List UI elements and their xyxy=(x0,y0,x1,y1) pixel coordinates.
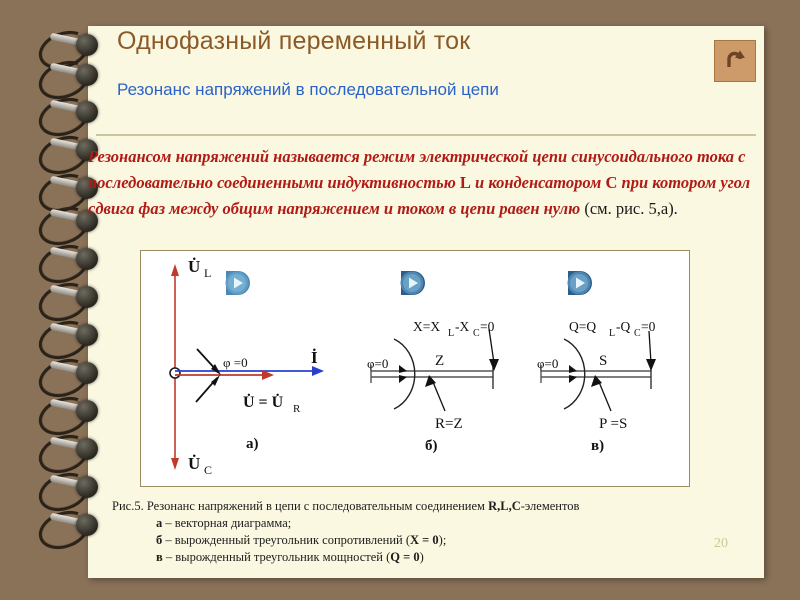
caption-line3-pre: – вырожденный треугольник сопротивлений … xyxy=(162,533,410,547)
caption-line3-post: ); xyxy=(439,533,447,547)
return-arrow-icon xyxy=(722,48,748,74)
binding-ring xyxy=(24,318,98,358)
caption-line-2: а – векторная диаграмма; xyxy=(156,515,752,532)
diagram-b-impedance: X=X L -X C =0 φ=0 Z R=Z б) xyxy=(363,251,538,484)
svg-text:X=X: X=X xyxy=(413,319,440,334)
diagram-c-power: Q=Q L -Q C =0 φ=0 S P =S в) xyxy=(533,251,693,484)
svg-text:C: C xyxy=(473,328,480,339)
svg-text:φ =0: φ =0 xyxy=(223,355,248,370)
play-icon xyxy=(224,269,254,297)
svg-text:U̇: U̇ xyxy=(188,257,200,276)
svg-text:=0: =0 xyxy=(480,319,495,334)
svg-text:а): а) xyxy=(246,436,259,452)
play-badge-c[interactable] xyxy=(566,269,596,297)
figure-caption: Рис.5. Резонанс напряжений в цепи с посл… xyxy=(112,498,752,566)
binding-ring xyxy=(24,133,98,173)
play-icon xyxy=(566,269,596,297)
play-badge-a[interactable] xyxy=(224,269,254,297)
para-red-2: и конденсатором xyxy=(471,173,606,192)
para-symbol-L: L xyxy=(460,173,471,192)
caption-line4-pre: – вырожденный треугольник мощностей ( xyxy=(163,550,390,564)
binding-ring xyxy=(24,58,98,98)
svg-text:L: L xyxy=(204,266,211,280)
caption-line1-bold: R,L,C xyxy=(488,499,521,513)
binding-ring xyxy=(24,280,98,320)
svg-text:U̇: U̇ xyxy=(188,454,200,473)
spiral-binding xyxy=(0,0,110,600)
caption-line3-bold2: X = 0 xyxy=(410,533,439,547)
svg-text:φ=0: φ=0 xyxy=(367,356,388,371)
binding-ring xyxy=(24,204,98,244)
svg-text:б): б) xyxy=(425,438,438,454)
caption-line-1: Рис.5. Резонанс напряжений в цепи с посл… xyxy=(112,498,752,515)
header-divider xyxy=(96,134,756,136)
binding-ring xyxy=(24,242,98,282)
binding-ring xyxy=(24,356,98,396)
caption-line-3: б – вырожденный треугольник сопротивлени… xyxy=(156,532,752,549)
para-reference: (см. рис. 5,а). xyxy=(584,199,677,218)
return-button[interactable] xyxy=(714,40,756,82)
caption-line1-pre: Рис.5. Резонанс напряжений в цепи с посл… xyxy=(112,499,488,513)
caption-line1-post: -элементов xyxy=(521,499,580,513)
caption-line4-bold: в xyxy=(156,550,163,564)
svg-text:-X: -X xyxy=(455,319,469,334)
svg-text:в): в) xyxy=(591,438,604,454)
binding-ring xyxy=(24,394,98,434)
svg-text:=0: =0 xyxy=(641,319,656,334)
binding-ring xyxy=(24,470,98,510)
svg-text:R=Z: R=Z xyxy=(435,416,463,432)
binding-ring xyxy=(24,508,98,548)
binding-ring xyxy=(24,95,98,135)
svg-text:L: L xyxy=(609,328,615,339)
svg-text:S: S xyxy=(599,353,607,369)
figure-box: U̇ L U̇ C İ φ =0 U̇ = U̇ R а) X=X L -X C… xyxy=(140,250,690,487)
svg-text:R: R xyxy=(293,403,301,415)
play-icon xyxy=(399,269,429,297)
caption-line2-text: – векторная диаграмма; xyxy=(162,516,291,530)
svg-text:C: C xyxy=(204,463,212,477)
page-title: Однофазный переменный ток xyxy=(117,27,470,56)
binding-ring xyxy=(24,432,98,472)
svg-text:P =S: P =S xyxy=(599,416,627,432)
caption-line4-post: ) xyxy=(420,550,424,564)
svg-text:Q=Q: Q=Q xyxy=(569,319,596,334)
body-paragraph: Резонансом напряжений называется режим э… xyxy=(88,144,778,222)
svg-text:U̇ = U̇: U̇ = U̇ xyxy=(243,392,284,411)
play-badge-b[interactable] xyxy=(399,269,429,297)
page-number: 20 xyxy=(714,536,728,552)
caption-line-4: в – вырожденный треугольник мощностей (Q… xyxy=(156,549,752,566)
svg-text:φ=0: φ=0 xyxy=(537,356,558,371)
svg-text:L: L xyxy=(448,328,454,339)
para-symbol-C: C xyxy=(605,173,617,192)
svg-text:İ: İ xyxy=(311,348,318,367)
caption-line4-bold2: Q = 0 xyxy=(390,550,419,564)
svg-text:Z: Z xyxy=(435,353,444,369)
page-subtitle: Резонанс напряжений в последовательной ц… xyxy=(117,80,499,100)
svg-text:C: C xyxy=(634,328,641,339)
svg-text:-Q: -Q xyxy=(616,319,630,334)
